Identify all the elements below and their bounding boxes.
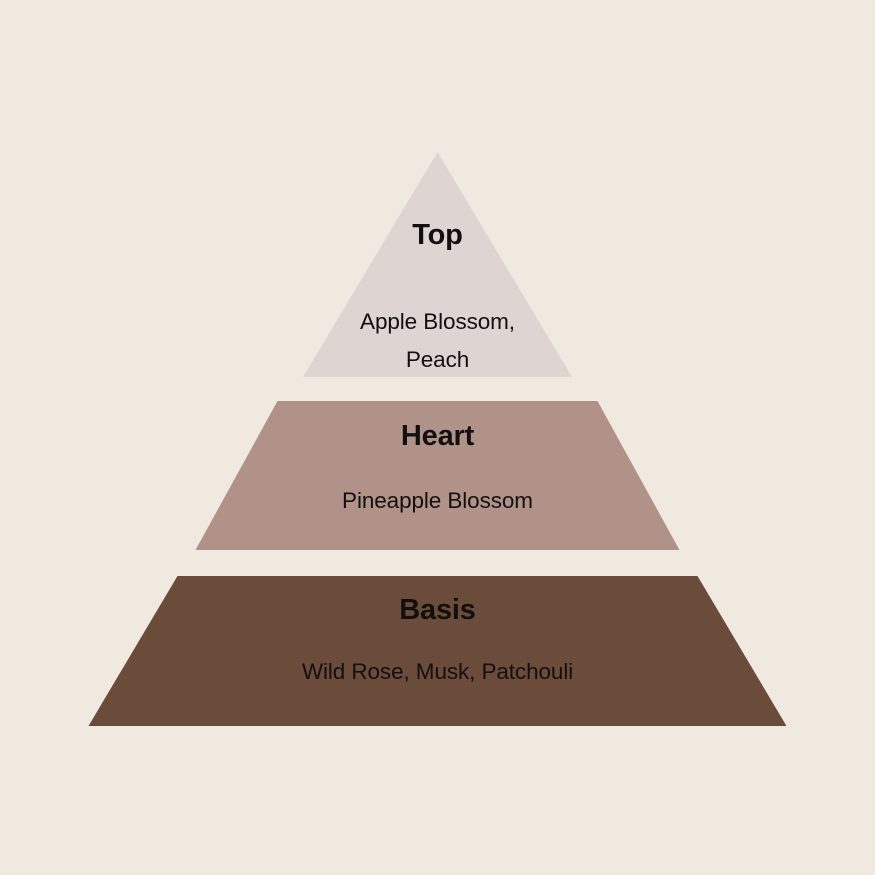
tier-shape-basis	[89, 576, 787, 726]
fragrance-pyramid-figure: Top Apple Blossom, Peach Heart Pineapple…	[0, 0, 875, 875]
tier-shape-heart	[196, 401, 680, 550]
pyramid-shapes	[0, 0, 875, 875]
tier-shape-top	[303, 152, 572, 377]
